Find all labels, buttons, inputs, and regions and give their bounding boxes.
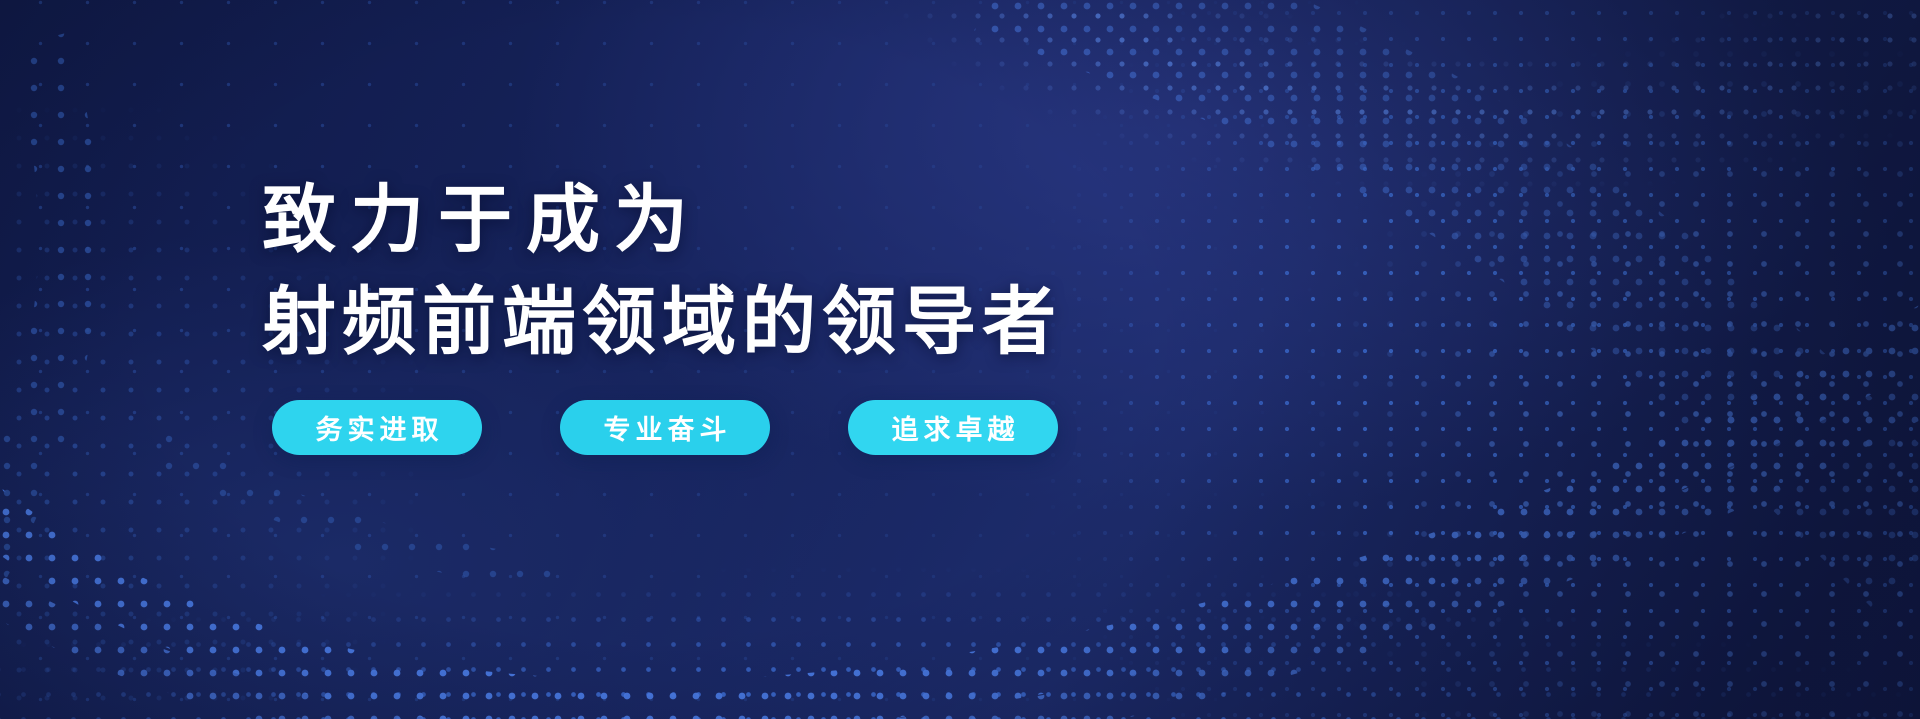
hero-content: 致力于成为 射频前端领域的领导者 务实进取 专业奋斗 追求卓越 (262, 172, 1362, 455)
tag-pill-1[interactable]: 务实进取 (272, 400, 482, 455)
tag-pill-2[interactable]: 专业奋斗 (560, 400, 770, 455)
hero-banner: 致力于成为 射频前端领域的领导者 务实进取 专业奋斗 追求卓越 (0, 0, 1920, 719)
tag-list: 务实进取 专业奋斗 追求卓越 (262, 400, 1362, 455)
headline-line-1: 致力于成为 (262, 172, 1362, 268)
tag-pill-3[interactable]: 追求卓越 (848, 400, 1058, 455)
headline-line-2: 射频前端领域的领导者 (262, 274, 1362, 370)
